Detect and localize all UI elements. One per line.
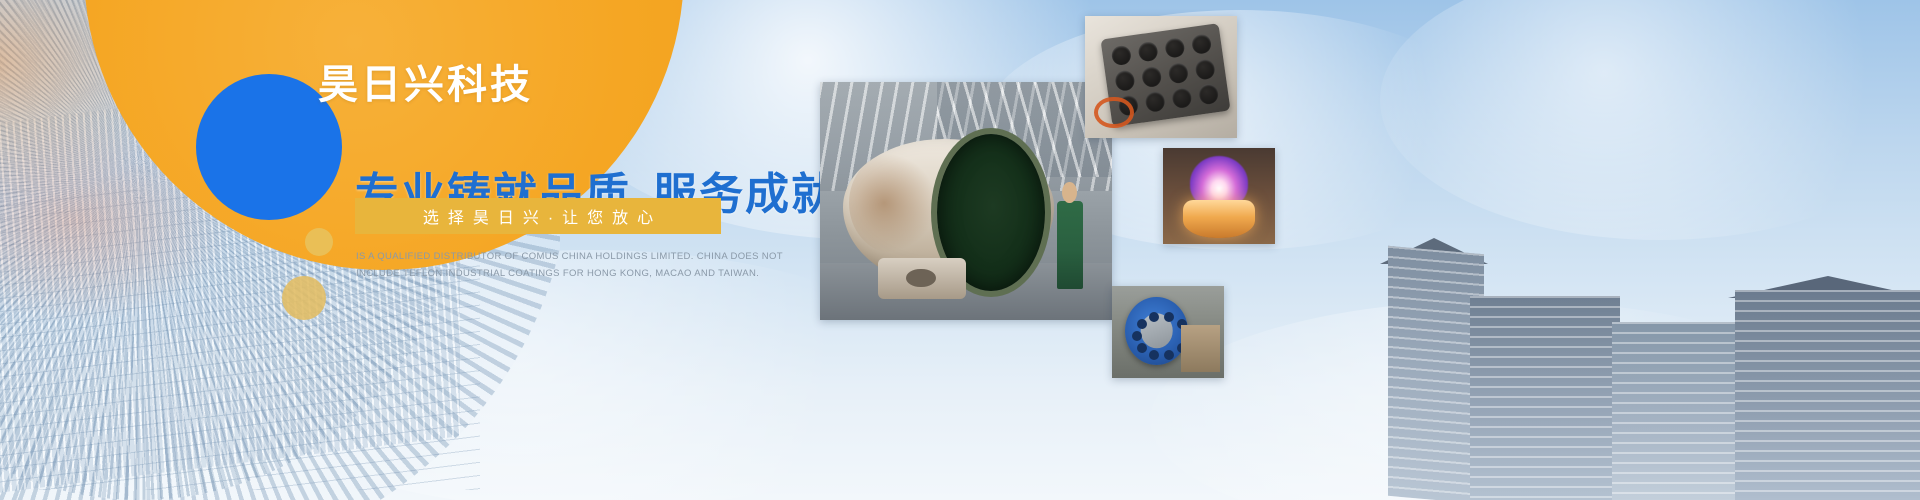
disclaimer-line-2: INCLUDE TEFLON INDUSTRIAL COATINGS FOR H… [356, 265, 742, 282]
cta-button-label: 选择昊日兴·让您放心 [414, 204, 662, 228]
photo-card-flange-ring [1112, 286, 1224, 378]
cloud-decoration [1380, 0, 1920, 240]
orange-ring-object [1094, 97, 1134, 129]
wooden-crate [1181, 325, 1219, 373]
building-tower [1470, 296, 1620, 500]
yellow-dot-decoration [282, 276, 326, 320]
photo-card-flame-spray [1163, 148, 1275, 244]
hero-banner: 昊日兴科技 专业铸就品质服务成就辉煌 选择昊日兴·让您放心 IS A QUALI… [0, 0, 1920, 500]
disclaimer-line-1: IS A QUALIFIED DISTRIBUTOR OF COMUS CHIN… [356, 248, 742, 265]
brand-name: 昊日兴科技 [318, 52, 533, 110]
worker-figure [1057, 201, 1083, 289]
yellow-dot-decoration [305, 228, 333, 256]
vessel-rust-patch [849, 153, 937, 253]
photo-card-baking-tray [1085, 16, 1237, 138]
cta-button[interactable]: 选择昊日兴·让您放心 [355, 198, 721, 234]
heated-workpiece [1183, 200, 1255, 238]
nonstick-baking-tray-photo [1085, 16, 1237, 138]
building-tower [1735, 290, 1920, 500]
disclaimer-text: IS A QUALIFIED DISTRIBUTOR OF COMUS CHIN… [356, 248, 742, 282]
building-tower [1612, 322, 1742, 500]
vessel-flange [878, 258, 966, 298]
photo-card-industrial-vessel [820, 82, 1112, 320]
industrial-vessel-photo [820, 82, 1112, 320]
blue-flange-ring-photo [1112, 286, 1224, 378]
flame-spray-coating-photo [1163, 148, 1275, 244]
